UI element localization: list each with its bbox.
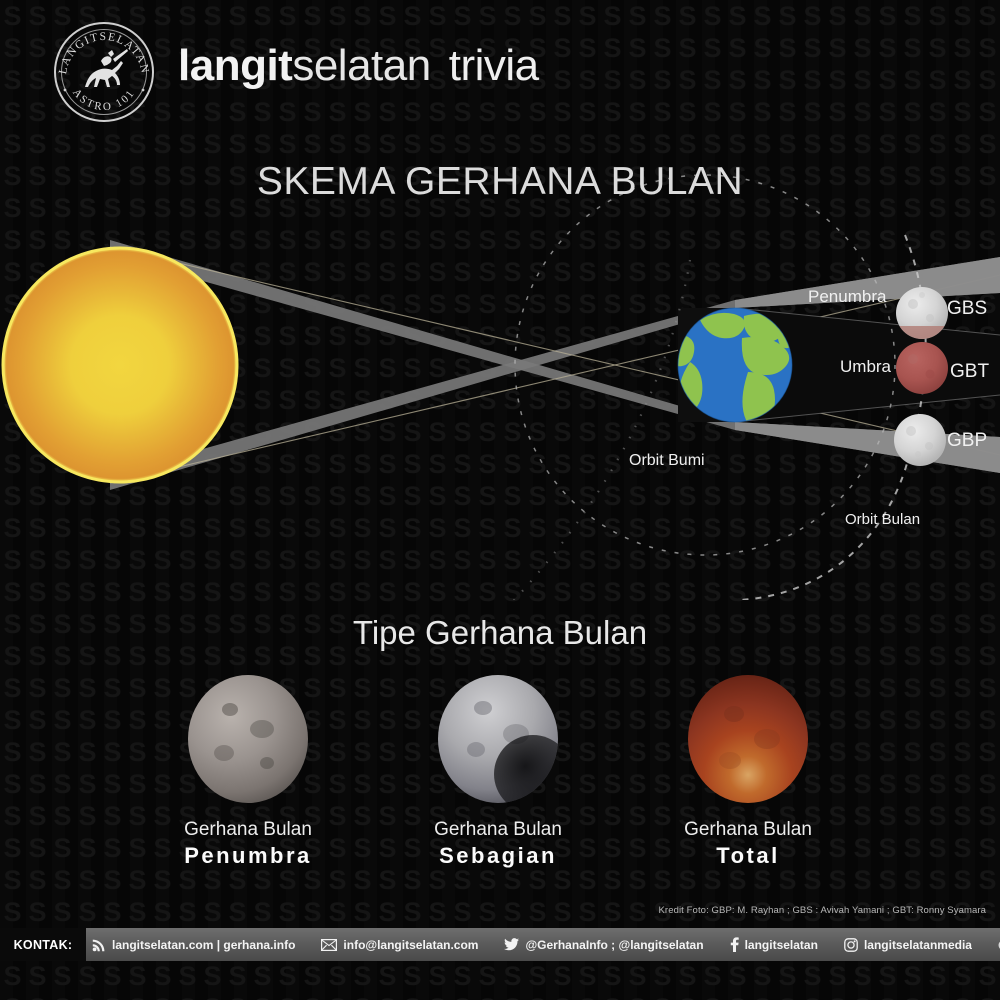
watermark-glyph: S bbox=[225, 960, 250, 992]
watermark-glyph: S bbox=[775, 992, 800, 1000]
watermark-glyph: S bbox=[625, 896, 650, 928]
watermark-glyph: S bbox=[475, 896, 500, 928]
watermark-glyph: S bbox=[575, 960, 600, 992]
watermark-glyph: S bbox=[575, 896, 600, 928]
watermark-glyph: S bbox=[300, 960, 325, 992]
watermark-glyph: S bbox=[50, 960, 75, 992]
watermark-glyph: S bbox=[200, 992, 225, 1000]
label-orbit-bumi: Orbit Bumi bbox=[629, 452, 705, 470]
watermark-glyph: S bbox=[125, 960, 150, 992]
moon-gbt bbox=[896, 342, 948, 394]
watermark-glyph: S bbox=[125, 896, 150, 928]
watermark-glyph: S bbox=[550, 992, 575, 1000]
label-orbit-bulan: Orbit Bulan bbox=[845, 511, 920, 528]
watermark-glyph: S bbox=[425, 992, 450, 1000]
eclipse-scheme-diagram: SKEMA GERHANA BULAN bbox=[0, 140, 1000, 600]
watermark-glyph: S bbox=[200, 896, 225, 928]
label-gbp: GBP bbox=[947, 430, 987, 452]
footer-bar: KONTAK: langitselatan.com | gerhana.info bbox=[0, 928, 1000, 961]
watermark-glyph: S bbox=[250, 896, 275, 928]
watermark-glyph: S bbox=[350, 896, 375, 928]
footer-item-text: langitselatanmedia bbox=[864, 938, 972, 952]
watermark-glyph: S bbox=[875, 960, 900, 992]
watermark-glyph: S bbox=[175, 960, 200, 992]
horse-rider-icon bbox=[77, 47, 131, 97]
watermark-glyph: S bbox=[625, 992, 650, 1000]
watermark-glyph: S bbox=[150, 960, 175, 992]
watermark-glyph: S bbox=[975, 960, 1000, 992]
decorative-dotted-arc bbox=[300, 260, 690, 600]
watermark-glyph: S bbox=[550, 960, 575, 992]
rss-icon bbox=[92, 938, 106, 952]
type-caption-line1: Gerhana Bulan bbox=[128, 819, 368, 841]
type-caption-line1: Gerhana Bulan bbox=[628, 819, 868, 841]
watermark-glyph: S bbox=[725, 992, 750, 1000]
watermark-glyph: S bbox=[425, 896, 450, 928]
sun bbox=[3, 248, 237, 482]
watermark-glyph: S bbox=[500, 960, 525, 992]
watermark-glyph: S bbox=[0, 896, 25, 928]
watermark-glyph: S bbox=[900, 960, 925, 992]
watermark-glyph: S bbox=[25, 896, 50, 928]
watermark-glyph: S bbox=[775, 960, 800, 992]
envelope-icon bbox=[321, 939, 337, 951]
watermark-glyph: S bbox=[650, 992, 675, 1000]
watermark-glyph: S bbox=[350, 960, 375, 992]
watermark-glyph: S bbox=[475, 960, 500, 992]
watermark-glyph: S bbox=[300, 896, 325, 928]
watermark-glyph: S bbox=[325, 992, 350, 1000]
watermark-glyph: S bbox=[100, 992, 125, 1000]
label-penumbra: Penumbra bbox=[808, 287, 886, 307]
watermark-glyph: S bbox=[500, 992, 525, 1000]
watermark-glyph: S bbox=[975, 992, 1000, 1000]
watermark-glyph: S bbox=[850, 992, 875, 1000]
watermark-glyph: S bbox=[375, 960, 400, 992]
watermark-glyph: S bbox=[950, 992, 975, 1000]
watermark-glyph: S bbox=[675, 960, 700, 992]
footer-item-text: langitselatan bbox=[745, 938, 818, 952]
watermark-glyph: S bbox=[475, 992, 500, 1000]
watermark-glyph: S bbox=[800, 992, 825, 1000]
watermark-glyph: S bbox=[400, 992, 425, 1000]
watermark-glyph: S bbox=[850, 960, 875, 992]
watermark-glyph: S bbox=[275, 992, 300, 1000]
watermark-glyph: S bbox=[450, 960, 475, 992]
wordmark-bold: langit bbox=[178, 41, 292, 90]
watermark-glyph: S bbox=[150, 896, 175, 928]
watermark-glyph: S bbox=[425, 960, 450, 992]
watermark-glyph: S bbox=[225, 992, 250, 1000]
type-card-penumbra: Gerhana Bulan Penumbra bbox=[128, 675, 368, 869]
watermark-glyph: S bbox=[300, 992, 325, 1000]
footer-item-text: info@langitselatan.com bbox=[343, 938, 478, 952]
watermark-glyph: S bbox=[925, 960, 950, 992]
watermark-glyph: S bbox=[375, 896, 400, 928]
watermark-glyph: S bbox=[650, 960, 675, 992]
instagram-icon bbox=[844, 938, 858, 952]
moon-penumbral-photo bbox=[188, 675, 308, 803]
type-caption-line2: Penumbra bbox=[128, 843, 368, 869]
watermark-glyph: S bbox=[550, 896, 575, 928]
watermark-glyph: S bbox=[400, 960, 425, 992]
watermark-glyph: S bbox=[25, 992, 50, 1000]
watermark-glyph: S bbox=[50, 992, 75, 1000]
watermark-glyph: S bbox=[100, 960, 125, 992]
watermark-glyph: S bbox=[900, 992, 925, 1000]
watermark-glyph: S bbox=[100, 896, 125, 928]
type-card-total: Gerhana Bulan Total bbox=[628, 675, 868, 869]
watermark-glyph: S bbox=[825, 960, 850, 992]
types-title: Tipe Gerhana Bulan bbox=[0, 614, 1000, 652]
twitter-icon bbox=[504, 938, 519, 951]
watermark-glyph: S bbox=[275, 960, 300, 992]
moon-total-photo bbox=[688, 675, 808, 803]
facebook-icon bbox=[730, 937, 739, 952]
header: LANGITSELATAN ASTRO 101 langitselatantri… bbox=[0, 0, 1000, 140]
watermark-glyph: S bbox=[250, 960, 275, 992]
footer-item-twitter[interactable]: @GerhanaInfo ; @langitselatan bbox=[504, 928, 703, 961]
moon-partial-photo bbox=[438, 675, 558, 803]
type-caption-line2: Sebagian bbox=[378, 843, 618, 869]
watermark-glyph: S bbox=[600, 896, 625, 928]
label-gbs: GBS bbox=[947, 298, 987, 320]
watermark-glyph: S bbox=[675, 992, 700, 1000]
watermark-glyph: S bbox=[225, 896, 250, 928]
watermark-glyph: S bbox=[125, 992, 150, 1000]
watermark-glyph: S bbox=[625, 960, 650, 992]
footer-item-facebook[interactable]: langitselatan bbox=[730, 928, 818, 961]
watermark-glyph: S bbox=[75, 960, 100, 992]
watermark-glyph: S bbox=[575, 992, 600, 1000]
moon-gbp bbox=[894, 414, 946, 466]
watermark-glyph: S bbox=[150, 992, 175, 1000]
watermark-glyph: S bbox=[325, 896, 350, 928]
watermark-glyph: S bbox=[0, 992, 25, 1000]
watermark-glyph: S bbox=[500, 896, 525, 928]
watermark-glyph: S bbox=[175, 896, 200, 928]
wordmark-trivia: trivia bbox=[449, 41, 539, 90]
langitselatan-logo[interactable]: LANGITSELATAN ASTRO 101 bbox=[48, 16, 160, 128]
label-gbt: GBT bbox=[950, 361, 989, 383]
watermark-glyph: S bbox=[0, 960, 25, 992]
watermark-glyph: S bbox=[925, 992, 950, 1000]
watermark-glyph: S bbox=[525, 960, 550, 992]
watermark-glyph: S bbox=[450, 992, 475, 1000]
watermark-glyph: S bbox=[700, 960, 725, 992]
wordmark-light: selatan bbox=[292, 41, 430, 90]
watermark-glyph: S bbox=[375, 992, 400, 1000]
footer-item-text: @GerhanaInfo ; @langitselatan bbox=[525, 938, 703, 952]
watermark-glyph: S bbox=[725, 960, 750, 992]
watermark-glyph: S bbox=[275, 896, 300, 928]
photo-credit: Kredit Foto: GBP: M. Rayhan ; GBS : Aviv… bbox=[659, 905, 987, 916]
watermark-glyph: S bbox=[875, 992, 900, 1000]
watermark-glyph: S bbox=[600, 992, 625, 1000]
watermark-glyph: S bbox=[750, 960, 775, 992]
watermark-glyph: S bbox=[325, 960, 350, 992]
type-caption-line1: Gerhana Bulan bbox=[378, 819, 618, 841]
watermark-glyph: S bbox=[825, 992, 850, 1000]
footer-item-website[interactable]: langitselatan.com | gerhana.info bbox=[92, 928, 295, 961]
watermark-glyph: S bbox=[450, 896, 475, 928]
type-caption-line2: Total bbox=[628, 843, 868, 869]
type-card-sebagian: Gerhana Bulan Sebagian bbox=[378, 675, 618, 869]
watermark-glyph: S bbox=[700, 992, 725, 1000]
watermark-glyph: S bbox=[950, 960, 975, 992]
watermark-glyph: S bbox=[175, 992, 200, 1000]
watermark-glyph: S bbox=[25, 960, 50, 992]
watermark-glyph: S bbox=[50, 896, 75, 928]
scheme-title: SKEMA GERHANA BULAN bbox=[0, 160, 1000, 204]
watermark-glyph: S bbox=[75, 992, 100, 1000]
eclipse-types-section: Tipe Gerhana Bulan Gerhana Bulan Penumbr… bbox=[0, 600, 1000, 900]
watermark-glyph: S bbox=[75, 896, 100, 928]
footer-item-instagram[interactable]: langitselatanmedia bbox=[844, 928, 972, 961]
wordmark: langitselatantrivia bbox=[178, 41, 539, 91]
watermark-glyph: S bbox=[600, 960, 625, 992]
watermark-glyph: S bbox=[400, 896, 425, 928]
watermark-glyph: S bbox=[525, 992, 550, 1000]
footer-item-text: langitselatan.com | gerhana.info bbox=[112, 938, 295, 952]
watermark-glyph: S bbox=[250, 992, 275, 1000]
footer-item-email[interactable]: info@langitselatan.com bbox=[321, 928, 478, 961]
label-umbra: Umbra bbox=[840, 357, 891, 377]
watermark-glyph: S bbox=[200, 960, 225, 992]
watermark-glyph: S bbox=[525, 896, 550, 928]
watermark-glyph: S bbox=[750, 992, 775, 1000]
kontak-label: KONTAK: bbox=[0, 928, 86, 961]
watermark-glyph: S bbox=[350, 992, 375, 1000]
watermark-glyph: S bbox=[800, 960, 825, 992]
